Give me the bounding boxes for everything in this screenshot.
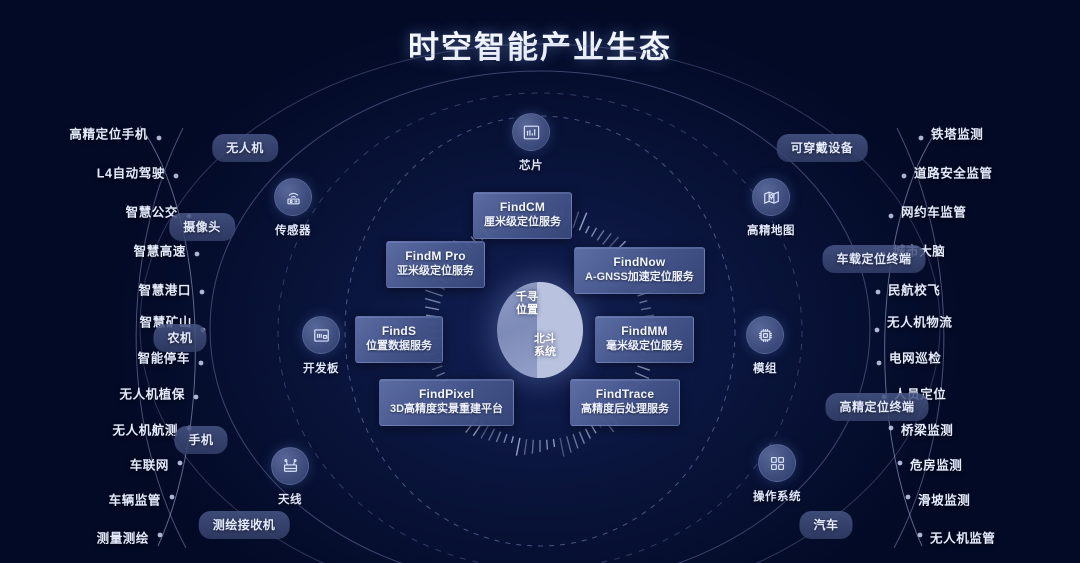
scenario-right-8[interactable]: 桥梁监测 (901, 420, 953, 439)
infographic-canvas: 时空智能产业生态 (0, 0, 1080, 563)
product-name: FindCM (484, 200, 561, 215)
scenario-left-7[interactable]: 无人机植保 (119, 384, 185, 403)
core-label-top: 千寻位置 (504, 291, 550, 317)
pill-automobile[interactable]: 汽车 (799, 511, 852, 539)
hardware-node-sensor[interactable]: 传感器 (245, 178, 341, 238)
scenario-right-11[interactable]: 无人机监管 (930, 528, 996, 547)
pill-camera[interactable]: 摄像头 (169, 213, 235, 241)
sensor-icon (274, 178, 312, 216)
chip-panel-icon (512, 113, 550, 151)
scenario-arc-right-inner (894, 128, 944, 548)
pill-wearable[interactable]: 可穿戴设备 (777, 134, 868, 162)
product-desc: A-GNSS加速定位服务 (585, 270, 694, 285)
scenario-dot-arc-right (885, 126, 940, 546)
node-label: 芯片 (483, 157, 579, 173)
scenario-left-4[interactable]: 智慧港口 (139, 280, 191, 299)
scenario-left-10[interactable]: 车辆监管 (109, 490, 161, 509)
scenario-left-1[interactable]: L4自动驾驶 (97, 163, 165, 182)
scenario-dots-right (875, 136, 924, 538)
product-desc: 位置数据服务 (366, 339, 432, 354)
product-card-findcm[interactable]: FindCM 厘米级定位服务 (473, 192, 572, 239)
scenario-left-11[interactable]: 测量测绘 (97, 528, 149, 547)
product-card-findnow[interactable]: FindNow A-GNSS加速定位服务 (574, 247, 705, 294)
scenario-left-9[interactable]: 车联网 (130, 455, 169, 474)
product-name: FindNow (585, 255, 694, 270)
node-label: 传感器 (245, 222, 341, 238)
page-title: 时空智能产业生态 (0, 22, 1080, 67)
node-label: 操作系统 (729, 488, 825, 504)
hardware-node-os[interactable]: 操作系统 (729, 444, 825, 504)
pill-mobile-phone[interactable]: 手机 (174, 426, 227, 454)
node-label: 高精地图 (723, 222, 819, 238)
core-label-bottom: 北斗系统 (522, 333, 568, 359)
product-desc: 高精度后处理服务 (581, 402, 669, 417)
pill-uav[interactable]: 无人机 (212, 134, 278, 162)
node-label: 模组 (717, 360, 813, 376)
pill-vehicle-terminal[interactable]: 车载定位终端 (822, 245, 925, 273)
node-label: 天线 (242, 491, 338, 507)
scenario-right-4[interactable]: 民航校飞 (888, 280, 940, 299)
hardware-node-hd-map[interactable]: 高精地图 (723, 178, 819, 238)
product-card-findm-pro[interactable]: FindM Pro 亚米级定位服务 (386, 241, 485, 288)
scenario-left-0[interactable]: 高精定位手机 (69, 124, 148, 143)
scenario-right-0[interactable]: 铁塔监测 (931, 124, 983, 143)
module-chip-icon (746, 316, 784, 354)
product-card-findpixel[interactable]: FindPixel 3D高精度实景重建平台 (379, 379, 514, 426)
product-name: FindM Pro (397, 249, 474, 264)
product-desc: 亚米级定位服务 (397, 264, 474, 279)
product-name: FindS (366, 324, 432, 339)
os-grid-icon (758, 444, 796, 482)
product-desc: 3D高精度实景重建平台 (390, 402, 503, 417)
scenario-right-9[interactable]: 危房监测 (910, 455, 962, 474)
product-desc: 毫米级定位服务 (606, 339, 683, 354)
dev-board-icon (302, 316, 340, 354)
pill-survey-receiver[interactable]: 测绘接收机 (199, 511, 290, 539)
node-label: 开发板 (273, 360, 369, 376)
scenario-right-1[interactable]: 道路安全监管 (914, 163, 993, 182)
hardware-node-module[interactable]: 模组 (717, 316, 813, 376)
scenario-right-2[interactable]: 网约车监管 (901, 202, 967, 221)
hardware-node-antenna[interactable]: 天线 (242, 447, 338, 507)
product-card-findtrace[interactable]: FindTrace 高精度后处理服务 (570, 379, 680, 426)
product-name: FindTrace (581, 387, 669, 402)
hardware-node-chip[interactable]: 芯片 (483, 113, 579, 173)
pill-agri-machine[interactable]: 农机 (153, 324, 206, 352)
scenario-left-8[interactable]: 无人机航测 (112, 420, 178, 439)
pill-hp-terminal[interactable]: 高精定位终端 (825, 393, 928, 421)
product-name: FindMM (606, 324, 683, 339)
scenario-right-10[interactable]: 滑坡监测 (918, 490, 970, 509)
scenario-left-3[interactable]: 智慧高速 (134, 241, 186, 260)
scenario-right-5[interactable]: 无人机物流 (887, 312, 953, 331)
product-card-finds[interactable]: FindS 位置数据服务 (355, 316, 443, 363)
product-name: FindPixel (390, 387, 503, 402)
antenna-icon (271, 447, 309, 485)
product-card-findmm[interactable]: FindMM 毫米级定位服务 (595, 316, 694, 363)
map-pin-icon (752, 178, 790, 216)
product-desc: 厘米级定位服务 (484, 215, 561, 230)
scenario-right-6[interactable]: 电网巡检 (889, 348, 941, 367)
